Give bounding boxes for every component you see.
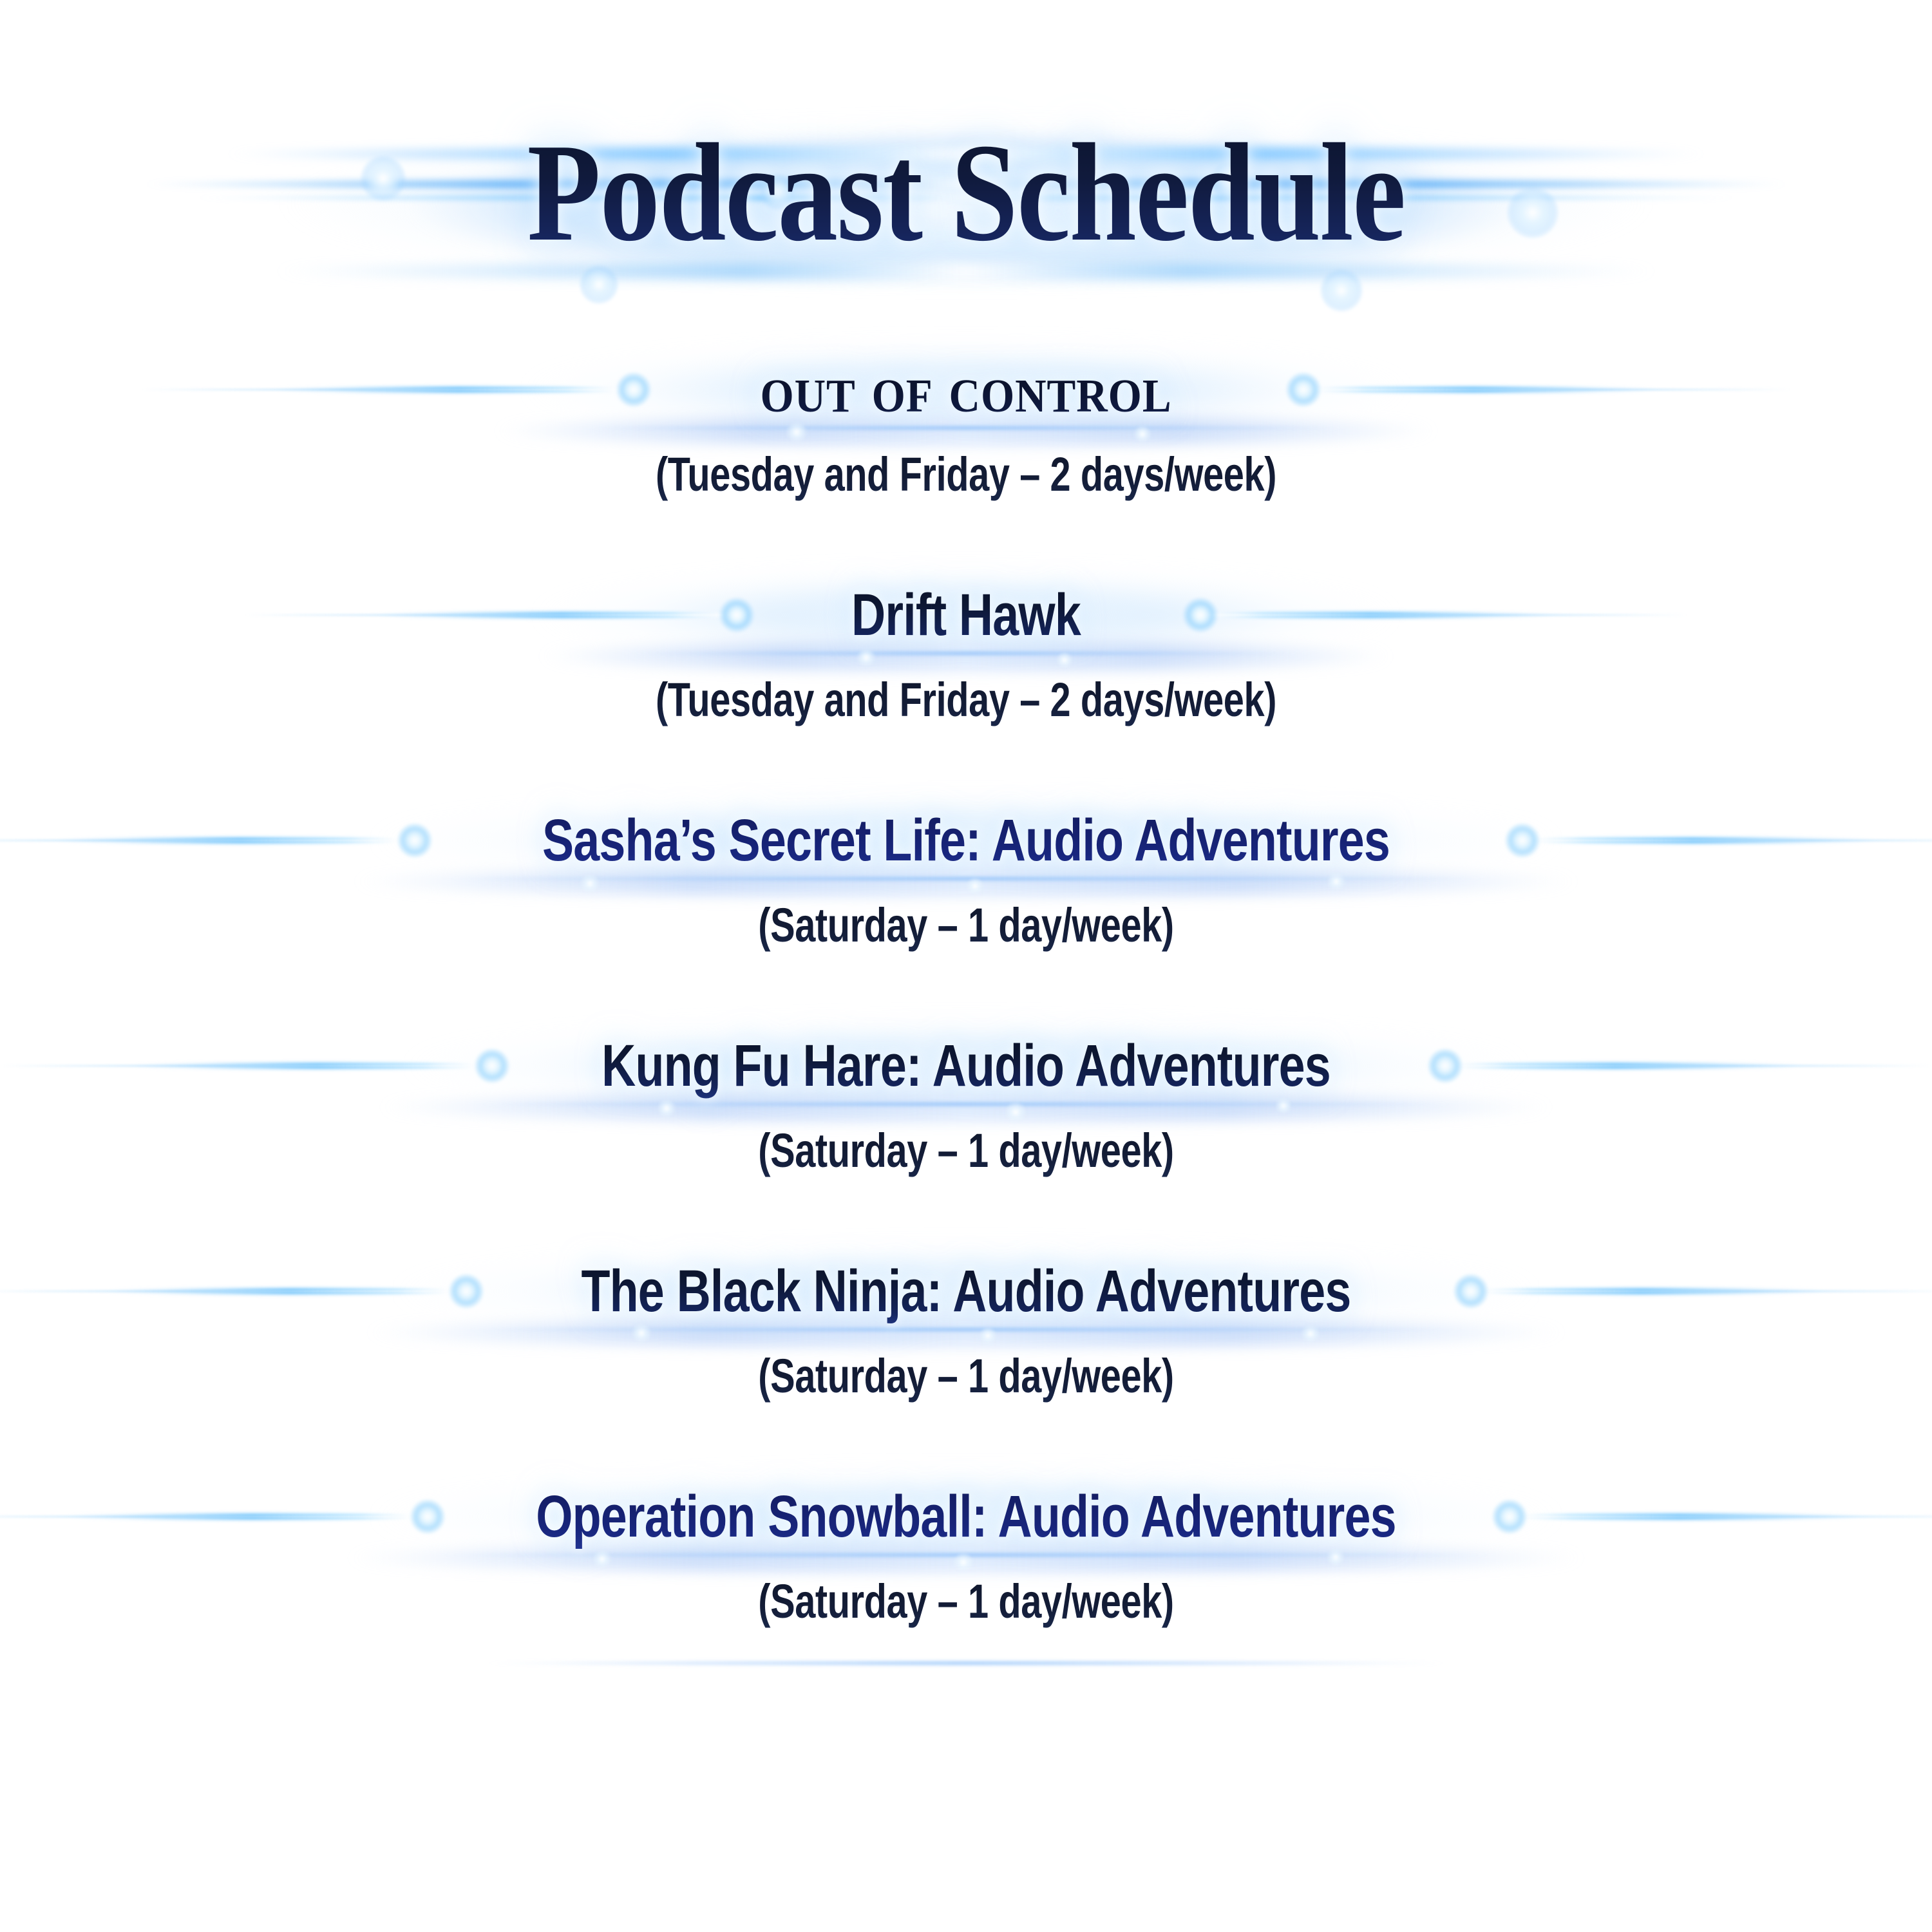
list-end-glow <box>483 1662 1449 1665</box>
entry-title-wrap: The Black Ninja: Audio Adventures <box>0 1243 1932 1340</box>
entry-title: Kung Fu Hare: Audio Adventures <box>193 1018 1739 1114</box>
entry-title-wrap: Sasha’s Secret Life: Audio Adventures <box>0 792 1932 889</box>
schedule-entry[interactable]: The Black Ninja: Audio Adventures (Satur… <box>0 1243 1932 1468</box>
entry-title-wrap: Out of Control <box>0 341 1932 438</box>
schedule-entry[interactable]: Drift Hawk (Tuesday and Friday – 2 days/… <box>0 567 1932 792</box>
schedule-list: Out of Control (Tuesday and Friday – 2 d… <box>0 341 1932 1694</box>
entry-schedule-text: (Tuesday and Friday – 2 days/week) <box>213 439 1719 510</box>
entry-title: Operation Snowball: Audio Adventures <box>193 1468 1739 1565</box>
entry-schedule-text: (Saturday – 1 day/week) <box>213 1566 1719 1637</box>
entry-schedule-text: (Tuesday and Friday – 2 days/week) <box>213 665 1719 735</box>
page-header: Podcast Schedule <box>0 97 1932 309</box>
page-title: Podcast Schedule <box>135 97 1797 290</box>
entry-title: Drift Hawk <box>193 567 1739 663</box>
entry-title-wrap: Drift Hawk <box>0 567 1932 663</box>
entry-title: The Black Ninja: Audio Adventures <box>193 1243 1739 1340</box>
entry-schedule-text: (Saturday – 1 day/week) <box>213 1115 1719 1186</box>
entry-title-wrap: Operation Snowball: Audio Adventures <box>0 1468 1932 1565</box>
podcast-schedule-page: Podcast Schedule Out of Control (Tuesday… <box>0 0 1932 1932</box>
schedule-entry[interactable]: Out of Control (Tuesday and Friday – 2 d… <box>0 341 1932 567</box>
entry-title: Out of Control <box>77 341 1855 438</box>
schedule-entry[interactable]: Operation Snowball: Audio Adventures (Sa… <box>0 1468 1932 1694</box>
entry-schedule-text: (Saturday – 1 day/week) <box>213 1341 1719 1412</box>
schedule-entry[interactable]: Kung Fu Hare: Audio Adventures (Saturday… <box>0 1018 1932 1243</box>
entry-schedule-text: (Saturday – 1 day/week) <box>213 890 1719 961</box>
entry-title-wrap: Kung Fu Hare: Audio Adventures <box>0 1018 1932 1114</box>
schedule-entry[interactable]: Sasha’s Secret Life: Audio Adventures (S… <box>0 792 1932 1018</box>
entry-title: Sasha’s Secret Life: Audio Adventures <box>193 792 1739 889</box>
